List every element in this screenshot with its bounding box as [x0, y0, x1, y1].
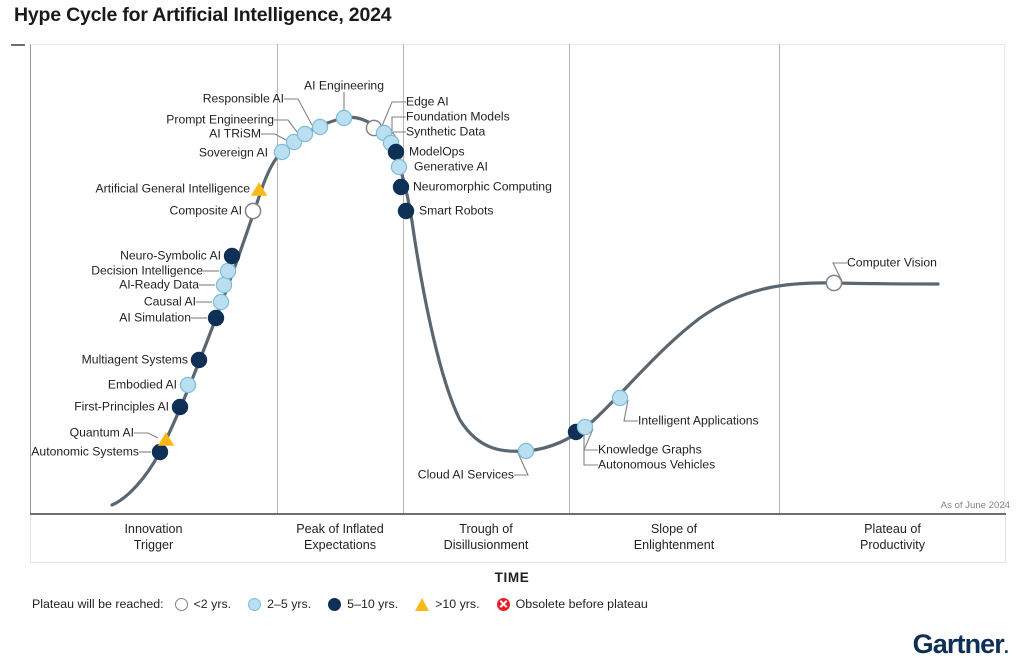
phase-divider-1: [277, 44, 278, 513]
phase-label-peak-of-inflated-expectations: Peak of Inflated Expectations: [277, 522, 403, 553]
data-point-label: Responsible AI: [203, 93, 284, 106]
data-point-label: Embodied AI: [108, 379, 177, 392]
data-point-label: Knowledge Graphs: [598, 444, 702, 457]
as-of-date: As of June 2024: [941, 500, 1010, 511]
legend-label: >10 yrs.: [435, 597, 479, 611]
phase-divider-2: [403, 44, 404, 513]
phase-label-innovation-trigger: Innovation Trigger: [30, 522, 277, 553]
phase-divider-3: [569, 44, 570, 513]
data-point-label: Causal AI: [144, 296, 196, 309]
page-title: Hype Cycle for Artificial Intelligence, …: [14, 4, 391, 27]
phase-label-trough-of-disillusionment: Trough of Disillusionment: [403, 522, 569, 553]
data-point-label: Decision Intelligence: [91, 265, 203, 278]
legend-item-gt10: >10 yrs.: [415, 597, 479, 611]
triangle-yellow-icon: [415, 598, 429, 611]
legend: Plateau will be reached: <2 yrs. 2–5 yrs…: [32, 597, 665, 611]
phase-line-1: Innovation: [30, 522, 277, 538]
data-point-label: ModelOps: [409, 146, 465, 159]
data-point-label: Composite AI: [170, 205, 242, 218]
x-axis-label: TIME: [0, 570, 1024, 585]
phase-line-1: Peak of Inflated: [277, 522, 403, 538]
gartner-logo: Gartner.: [913, 629, 1008, 660]
data-point-label: Autonomous Vehicles: [598, 459, 715, 472]
data-point-label: AI Simulation: [119, 312, 191, 325]
legend-label: 5–10 yrs.: [347, 597, 398, 611]
phase-line-2: Productivity: [779, 538, 1006, 554]
phase-line-1: Trough of: [403, 522, 569, 538]
data-point-label: Neuro-Symbolic AI: [120, 250, 221, 263]
data-point-label: Artificial General Intelligence: [96, 183, 250, 196]
phase-line-1: Plateau of: [779, 522, 1006, 538]
data-point-label: AI TRiSM: [209, 128, 261, 141]
data-point-label: Autonomic Systems: [31, 446, 139, 459]
phase-line-2: Expectations: [277, 538, 403, 554]
data-point-label: Computer Vision: [847, 257, 937, 270]
obsolete-x-icon: [497, 598, 510, 611]
data-point-label: AI-Ready Data: [119, 279, 199, 292]
data-point-label: First-Principles AI: [74, 401, 169, 414]
data-point-label: Generative AI: [414, 161, 488, 174]
legend-title: Plateau will be reached:: [32, 597, 164, 611]
legend-item-obsolete: Obsolete before plateau: [497, 597, 648, 611]
legend-item-lt2: <2 yrs.: [175, 597, 232, 611]
circle-light-blue-icon: [248, 598, 261, 611]
data-point-label: Sovereign AI: [199, 147, 268, 160]
phase-label-plateau-of-productivity: Plateau of Productivity: [779, 522, 1006, 553]
circle-dark-navy-icon: [328, 598, 341, 611]
circle-white-icon: [175, 598, 188, 611]
legend-label: 2–5 yrs.: [267, 597, 311, 611]
gartner-wordmark: Gartner: [913, 629, 1004, 659]
phase-line-2: Enlightenment: [569, 538, 779, 554]
data-point-label: Multiagent Systems: [82, 354, 188, 367]
y-axis-tick: [11, 44, 25, 46]
data-point-label: Foundation Models: [406, 111, 510, 124]
gartner-dot: .: [1004, 637, 1008, 657]
legend-label: Obsolete before plateau: [516, 597, 648, 611]
legend-label: <2 yrs.: [194, 597, 232, 611]
data-point-label: Smart Robots: [419, 205, 494, 218]
data-point-label: Neuromorphic Computing: [413, 181, 552, 194]
legend-item-2to5: 2–5 yrs.: [248, 597, 311, 611]
data-point-label: Prompt Engineering: [166, 114, 274, 127]
phase-line-2: Disillusionment: [403, 538, 569, 554]
data-point-label: Edge AI: [406, 96, 449, 109]
hype-cycle-page: Hype Cycle for Artificial Intelligence, …: [0, 0, 1024, 668]
phase-line-2: Trigger: [30, 538, 277, 554]
data-point-label: Quantum AI: [70, 427, 134, 440]
phase-line-1: Slope of: [569, 522, 779, 538]
data-point-label: Intelligent Applications: [638, 415, 759, 428]
data-point-label: Synthetic Data: [406, 126, 485, 139]
phase-label-slope-of-enlightenment: Slope of Enlightenment: [569, 522, 779, 553]
phase-divider-4: [779, 44, 780, 513]
data-point-label: AI Engineering: [304, 80, 384, 93]
data-point-label: Cloud AI Services: [418, 469, 514, 482]
legend-item-5to10: 5–10 yrs.: [328, 597, 398, 611]
